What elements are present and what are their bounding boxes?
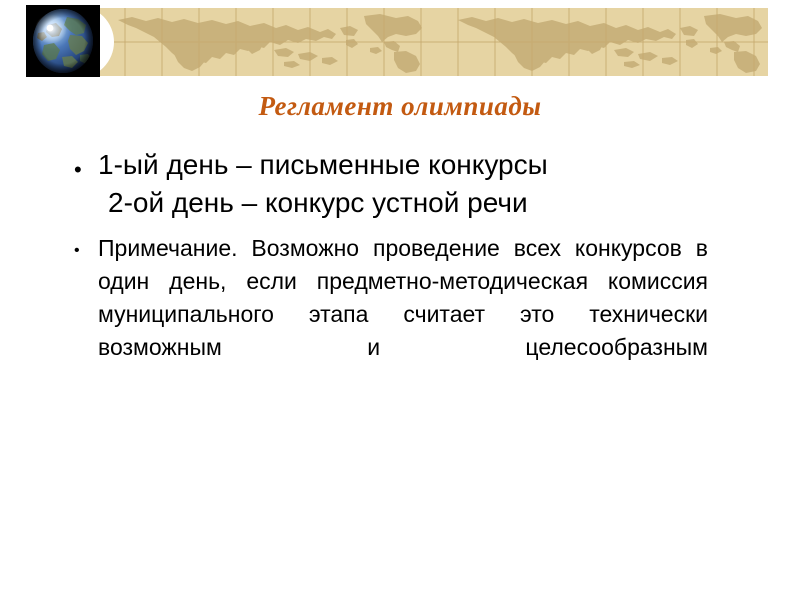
- header-banner: [88, 8, 768, 76]
- bullet-marker-icon: •: [74, 243, 80, 259]
- bullet-day-2-text: 2-ой день – конкурс устной речи: [98, 184, 734, 222]
- globe-icon: [26, 5, 100, 77]
- bullet-note-text: Примечание. Возможно проведение всех кон…: [74, 232, 708, 397]
- list-item: • Примечание. Возможно проведение всех к…: [74, 232, 734, 397]
- slide-body: • 1-ый день – письменные конкурсы 2-ой д…: [74, 146, 734, 397]
- page-title: Регламент олимпиады: [60, 90, 740, 122]
- list-item: • 1-ый день – письменные конкурсы 2-ой д…: [74, 146, 734, 222]
- bullet-marker-icon: •: [74, 159, 82, 181]
- bullet-day-1-text: 1-ый день – письменные конкурсы: [98, 149, 548, 180]
- world-map-graphic: [88, 8, 768, 76]
- slide: Регламент олимпиады • 1-ый день – письме…: [0, 0, 800, 600]
